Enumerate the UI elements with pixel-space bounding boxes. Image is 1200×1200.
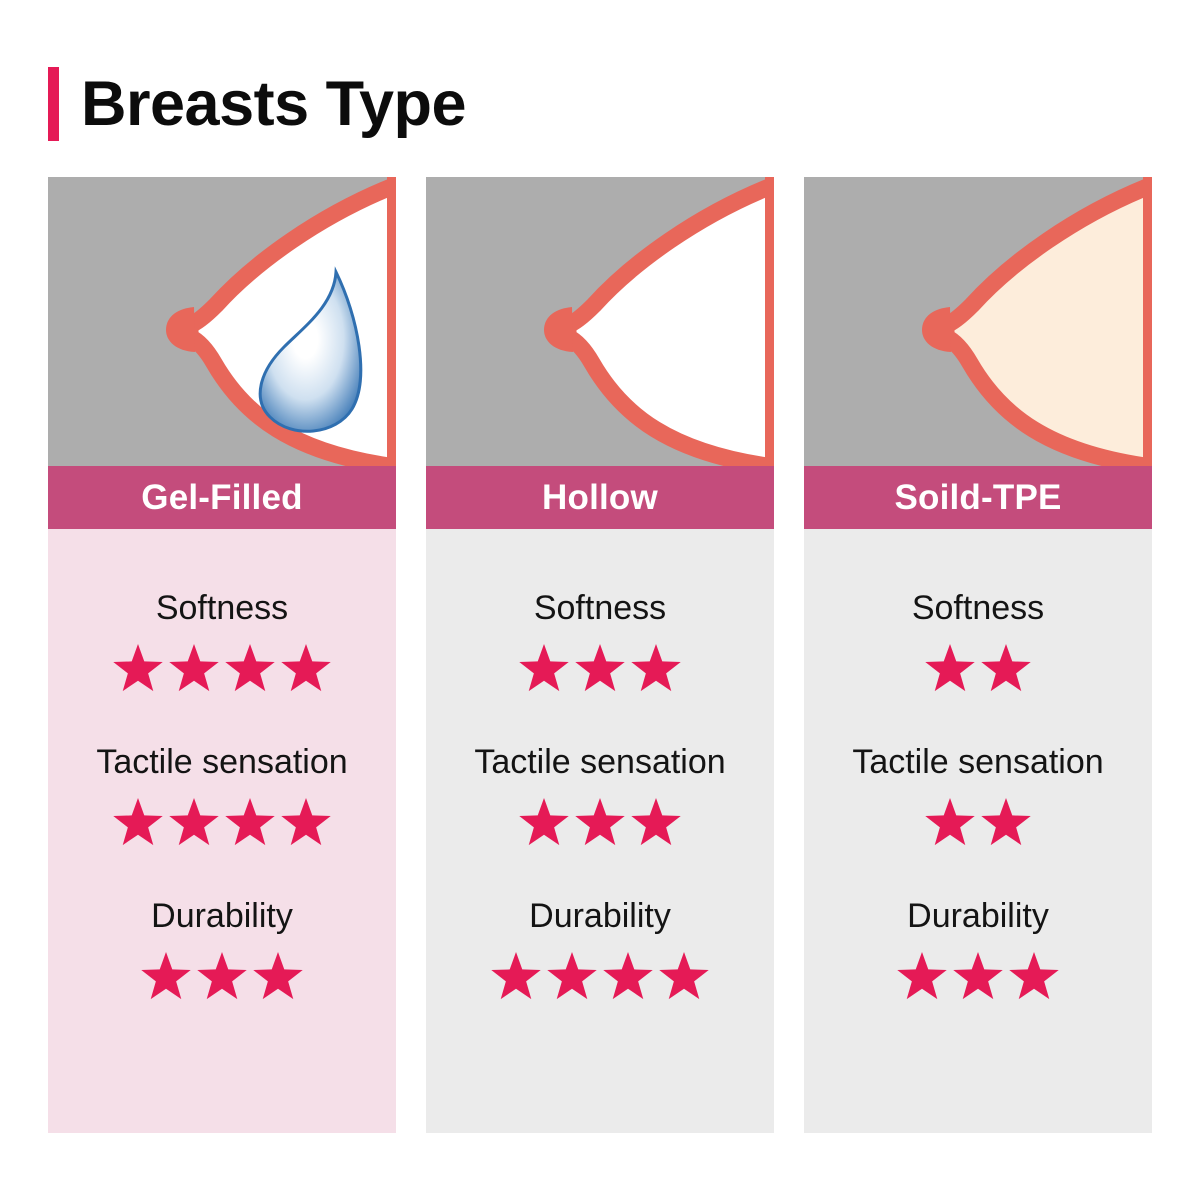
page-title-row: Breasts Type [48, 62, 466, 146]
star-rating [518, 797, 682, 849]
star-icon [924, 797, 976, 849]
chest-wall-edge [387, 177, 396, 466]
star-rating [924, 797, 1032, 849]
star-icon [602, 951, 654, 1003]
breast-gel-filled-icon [48, 177, 396, 466]
star-icon [112, 797, 164, 849]
metric-label: Tactile sensation [474, 745, 725, 779]
metric-row: Durability [426, 899, 774, 1003]
star-icon [518, 797, 570, 849]
metric-row: Durability [804, 899, 1152, 1003]
star-rating [518, 643, 682, 695]
star-icon [280, 643, 332, 695]
nipple-shape [922, 307, 951, 352]
infographic-page: Breasts Type Gel-FilledSoftnessTactile s… [0, 0, 1200, 1200]
star-rating [112, 643, 332, 695]
metric-label: Softness [534, 591, 666, 625]
metric-label: Durability [529, 899, 671, 933]
star-icon [196, 951, 248, 1003]
column-body: SoftnessTactile sensationDurability [48, 529, 396, 1133]
breast-outline [946, 185, 1152, 466]
star-rating [490, 951, 710, 1003]
chest-wall-edge [1143, 177, 1152, 466]
star-rating [140, 951, 304, 1003]
star-icon [1008, 951, 1060, 1003]
metric-label: Softness [156, 591, 288, 625]
comparison-column[interactable]: HollowSoftnessTactile sensationDurabilit… [426, 177, 774, 1133]
star-icon [490, 951, 542, 1003]
metric-row: Softness [48, 591, 396, 695]
star-icon [140, 951, 192, 1003]
star-icon [224, 797, 276, 849]
nipple-shape [166, 307, 195, 352]
star-rating [112, 797, 332, 849]
illustration-panel [804, 177, 1152, 466]
star-icon [280, 797, 332, 849]
column-body: SoftnessTactile sensationDurability [426, 529, 774, 1133]
column-title: Hollow [542, 480, 658, 515]
title-accent-bar [48, 67, 59, 141]
metric-label: Tactile sensation [96, 745, 347, 779]
metric-row: Softness [804, 591, 1152, 695]
metric-label: Durability [151, 899, 293, 933]
comparison-column[interactable]: Gel-FilledSoftnessTactile sensationDurab… [48, 177, 396, 1133]
star-icon [952, 951, 1004, 1003]
column-body: SoftnessTactile sensationDurability [804, 529, 1152, 1133]
nipple-shape [544, 307, 573, 352]
star-icon [112, 643, 164, 695]
star-icon [896, 951, 948, 1003]
star-icon [574, 643, 626, 695]
column-title: Soild-TPE [894, 480, 1061, 515]
breast-solid-tpe-icon [804, 177, 1152, 466]
metric-row: Tactile sensation [804, 745, 1152, 849]
star-icon [252, 951, 304, 1003]
metric-row: Tactile sensation [426, 745, 774, 849]
metric-label: Tactile sensation [852, 745, 1103, 779]
star-icon [980, 797, 1032, 849]
comparison-columns: Gel-FilledSoftnessTactile sensationDurab… [48, 177, 1152, 1133]
star-icon [574, 797, 626, 849]
breast-outline [568, 185, 774, 466]
breast-hollow-icon [426, 177, 774, 466]
column-header-band: Hollow [426, 466, 774, 529]
star-icon [168, 797, 220, 849]
star-rating [924, 643, 1032, 695]
metric-label: Softness [912, 591, 1044, 625]
star-icon [546, 951, 598, 1003]
star-rating [896, 951, 1060, 1003]
star-icon [658, 951, 710, 1003]
column-title: Gel-Filled [141, 480, 302, 515]
illustration-panel [48, 177, 396, 466]
illustration-panel [426, 177, 774, 466]
star-icon [224, 643, 276, 695]
star-icon [980, 643, 1032, 695]
column-header-band: Soild-TPE [804, 466, 1152, 529]
star-icon [630, 797, 682, 849]
star-icon [630, 643, 682, 695]
page-title: Breasts Type [81, 73, 466, 136]
metric-row: Tactile sensation [48, 745, 396, 849]
metric-label: Durability [907, 899, 1049, 933]
chest-wall-edge [765, 177, 774, 466]
star-icon [518, 643, 570, 695]
star-icon [168, 643, 220, 695]
star-icon [924, 643, 976, 695]
metric-row: Durability [48, 899, 396, 1003]
comparison-column[interactable]: Soild-TPESoftnessTactile sensationDurabi… [804, 177, 1152, 1133]
metric-row: Softness [426, 591, 774, 695]
column-header-band: Gel-Filled [48, 466, 396, 529]
